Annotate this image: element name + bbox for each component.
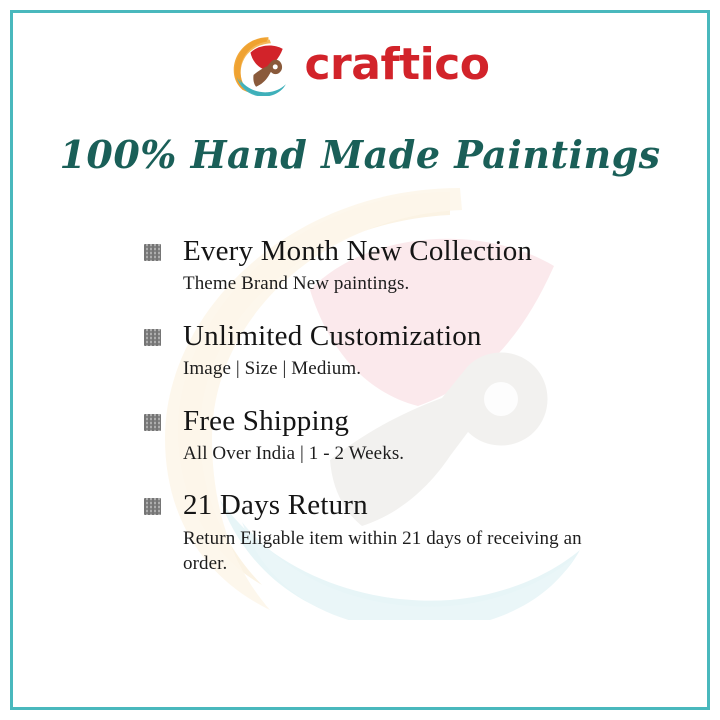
feature-subtitle: All Over India | 1 - 2 Weeks.: [183, 441, 624, 466]
woven-square-bullet-icon: [144, 329, 161, 346]
feature-subtitle: Theme Brand New paintings.: [183, 271, 624, 296]
feature-title: 21 Days Return: [183, 490, 624, 521]
feature-text: Free Shipping All Over India | 1 - 2 Wee…: [183, 406, 624, 467]
feature-title: Free Shipping: [183, 406, 624, 437]
page-title: 100% Hand Made Paintings: [0, 132, 720, 177]
promo-banner: craftico 100% Hand Made Paintings Every …: [0, 0, 720, 720]
feature-text: Unlimited Customization Image | Size | M…: [183, 321, 624, 382]
woven-square-bullet-icon: [144, 244, 161, 261]
list-item: Every Month New Collection Theme Brand N…: [144, 236, 624, 297]
feature-text: 21 Days Return Return Eligable item with…: [183, 490, 624, 576]
craftico-paintbrush-c-logo-icon: [230, 34, 292, 96]
brand-wordmark: craftico: [304, 43, 489, 87]
feature-text: Every Month New Collection Theme Brand N…: [183, 236, 624, 297]
brand-logo: craftico: [0, 34, 720, 96]
list-item: Unlimited Customization Image | Size | M…: [144, 321, 624, 382]
feature-list: Every Month New Collection Theme Brand N…: [144, 236, 624, 577]
list-item: 21 Days Return Return Eligable item with…: [144, 490, 624, 576]
feature-title: Every Month New Collection: [183, 236, 624, 267]
feature-subtitle: Image | Size | Medium.: [183, 356, 624, 381]
feature-title: Unlimited Customization: [183, 321, 624, 352]
list-item: Free Shipping All Over India | 1 - 2 Wee…: [144, 406, 624, 467]
feature-subtitle: Return Eligable item within 21 days of r…: [183, 526, 624, 577]
woven-square-bullet-icon: [144, 498, 161, 515]
woven-square-bullet-icon: [144, 414, 161, 431]
